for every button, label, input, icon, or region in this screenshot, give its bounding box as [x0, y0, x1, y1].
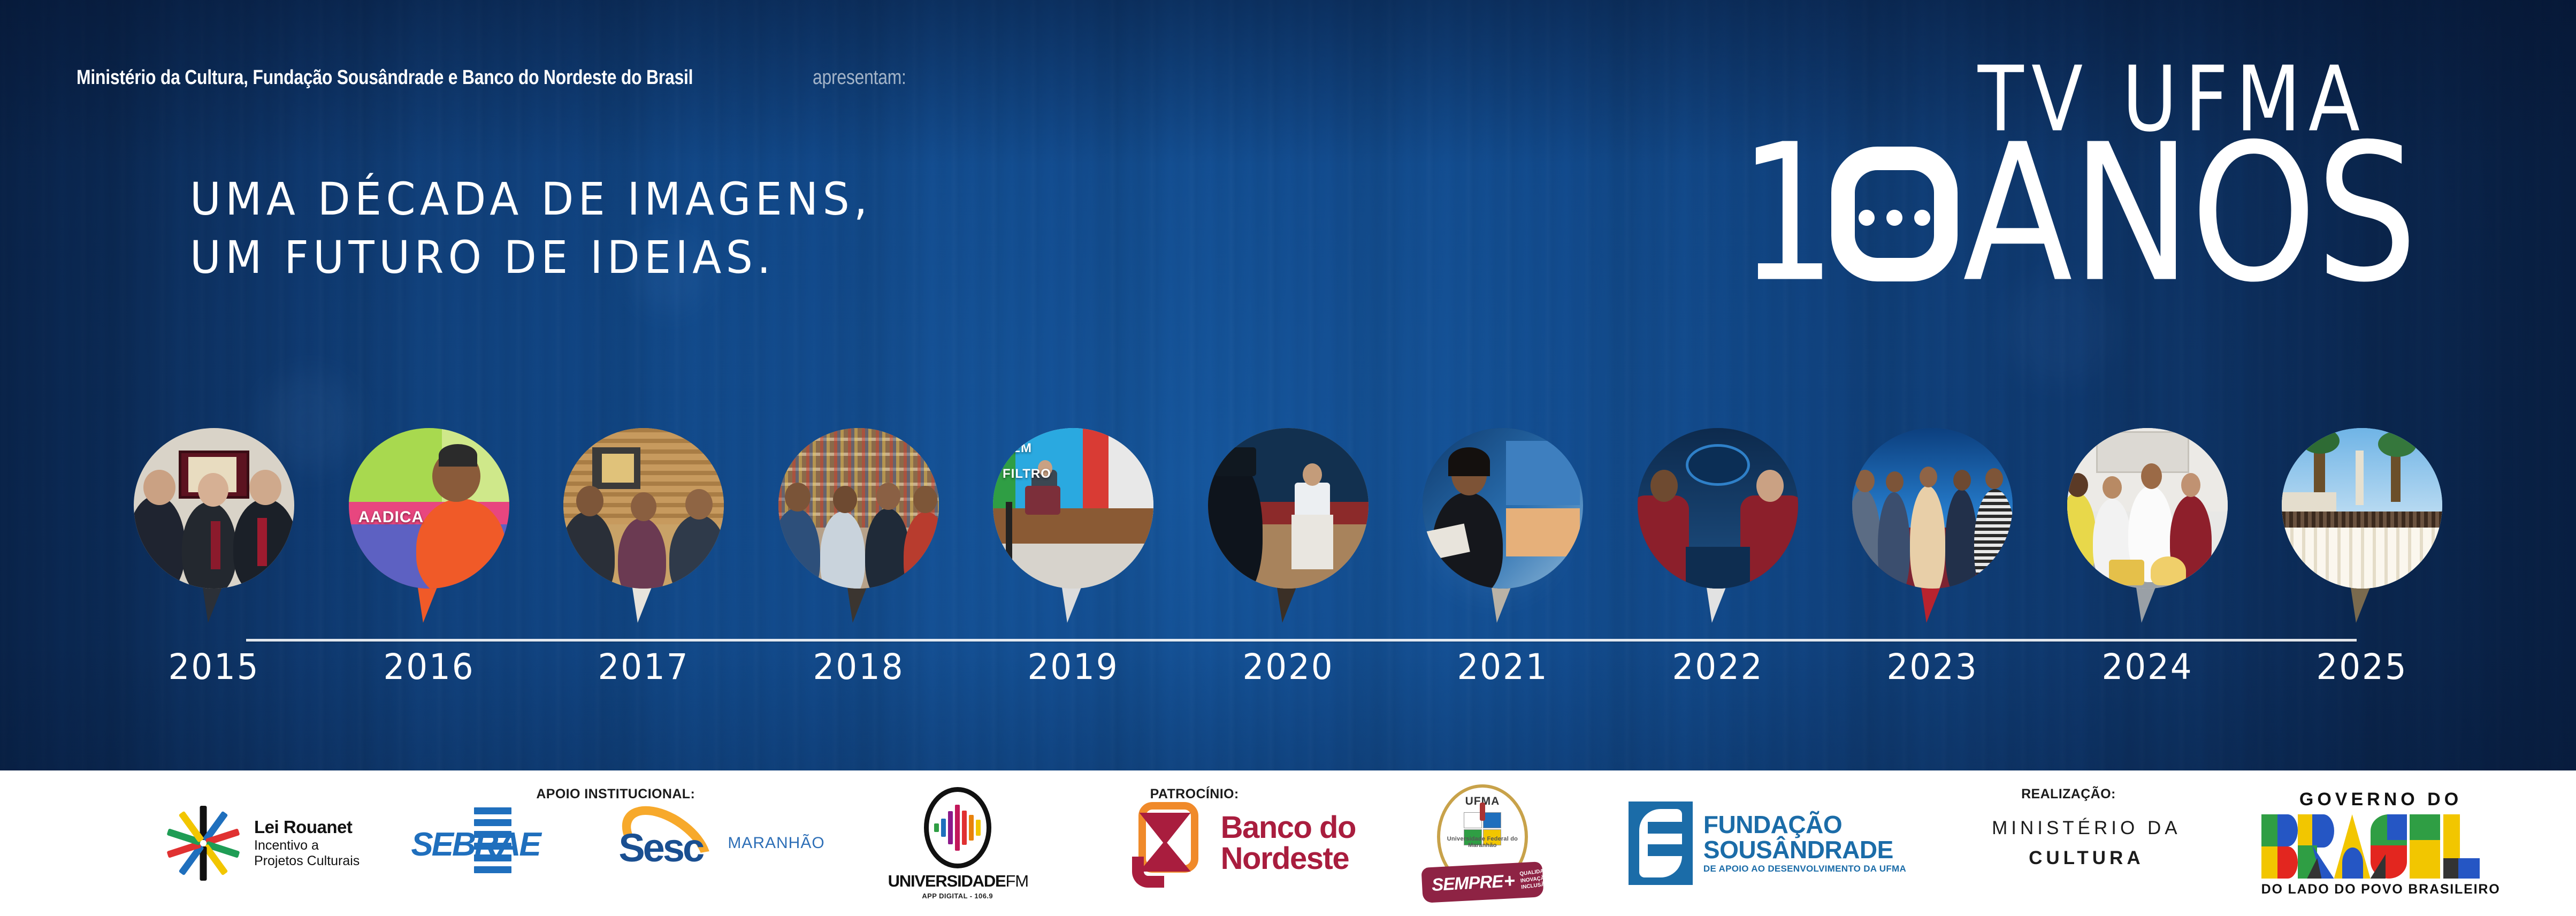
photo-scene-shape: [2096, 431, 2189, 473]
logo-banco-do-nordeste: Banco do Nordeste: [1129, 799, 1356, 888]
logo-anos-text: ANOS: [1963, 140, 2417, 288]
ufma-seal-arc-text: Universidade Federal do Maranhão: [1441, 836, 1524, 849]
photo-scene: SEMFILTRO: [993, 428, 1153, 589]
timeline-photo-bubble: [563, 428, 724, 589]
governo-bottom-text: DO LADO DO POVO BRASILEIRO: [2261, 882, 2501, 897]
photo-scene-shape: [1920, 467, 1937, 487]
photo-scene-shape: [2356, 451, 2364, 505]
photo-scene-shape: [1506, 508, 1580, 556]
timeline-photo: [1852, 428, 2013, 589]
banco-nordeste-symbol-icon: [1129, 799, 1209, 888]
photo-scene: [2282, 428, 2442, 589]
bnb-line-2: Nordeste: [1221, 843, 1356, 874]
promotional-banner: Ministério da Cultura, Fundação Sousândr…: [0, 0, 2576, 916]
timeline-year-label: 2017: [568, 646, 720, 688]
photo-scene-shape: [134, 495, 185, 589]
timeline-photo-bubble: [2067, 428, 2228, 589]
photo-scene-shape: [785, 483, 811, 512]
sempre-mais-ribbon: SEMPRE + QUALIDADE INOVAÇÃO INCLUSÃO: [1421, 861, 1543, 903]
photo-scene-shape: [993, 544, 1153, 589]
timeline-item-2022: 2022: [1638, 428, 1798, 688]
logo-sesc: Sesc MARANHÃO: [614, 811, 824, 875]
brasil-letter-block: [2458, 858, 2479, 879]
sponsor-footer: Lei Rouanet Incentivo a Projetos Cultura…: [0, 770, 2576, 916]
brasil-letter-R: [2298, 814, 2334, 879]
sesc-state: MARANHÃO: [728, 834, 824, 852]
timeline-photo-bubble: [1638, 428, 1798, 589]
photo-scene-shape: [211, 521, 220, 569]
photo-scene: [1852, 428, 2013, 589]
photo-scene-shape: SEM: [1003, 441, 1032, 456]
timeline-photo: [134, 428, 294, 589]
crest-quadrant: [1483, 812, 1501, 828]
ellipsis-dots-icon: [1859, 210, 1930, 226]
photo-scene-shape: [182, 502, 236, 589]
photo-scene: [563, 428, 724, 589]
photo-scene-shape: [1109, 428, 1153, 521]
photo-scene-shape: [143, 470, 175, 505]
timeline-photo: [1423, 428, 1583, 589]
timeline-year-label: 2025: [2286, 646, 2439, 688]
plus-icon: +: [1503, 869, 1516, 892]
photo-scene: [1423, 428, 1583, 589]
brasil-letter-S: [2371, 814, 2407, 879]
photo-scene-shape: [1953, 470, 1971, 491]
timeline-item-2021: 2021: [1423, 428, 1583, 688]
brasil-letter-block: [2277, 846, 2298, 879]
photo-scene-shape: [1638, 495, 1689, 589]
brasil-letter-block: [2443, 814, 2460, 860]
logo-universidade-fm: UNIVERSIDADEFM APP DIGITAL - 106.9: [888, 787, 1027, 900]
credit-sponsors: Ministério da Cultura, Fundação Sousândr…: [77, 66, 693, 89]
photo-scene-shape: [602, 454, 634, 483]
timeline-photo: SEMFILTRO: [993, 428, 1153, 589]
photo-scene-shape: [913, 486, 937, 513]
timeline-item-2019: SEMFILTRO2019: [993, 428, 1153, 688]
sesc-wordmark: Sesc: [618, 825, 702, 871]
photo-scene-shape: [1291, 515, 1333, 569]
equalizer-bar: [976, 820, 981, 836]
rouanet-line-1: Incentivo a: [254, 838, 360, 854]
timeline-item-2016: AADICA2016: [349, 428, 509, 688]
brasil-letter-block: [2410, 840, 2440, 879]
timeline-year-label: 2019: [997, 646, 1150, 688]
brasil-wordmark-icon: [2261, 814, 2501, 879]
timeline-photo: AADICA: [349, 428, 509, 589]
tagline: UMA DÉCADA DE IMAGENS, UM FUTURO DE IDEI…: [190, 170, 915, 287]
photo-scene-shape: [833, 486, 857, 513]
timeline-photo-bubble: [1852, 428, 2013, 589]
photo-scene-shape: [1756, 470, 1784, 502]
logo-governo-do-brasil: GOVERNO DO DO LADO DO POVO BRASILEIRO: [2261, 789, 2501, 897]
photo-scene-shape: [1506, 441, 1580, 505]
brasil-letter-block: [2261, 814, 2279, 846]
rouanet-starburst-icon: [163, 803, 243, 883]
sempre-values: QUALIDADE INOVAÇÃO INCLUSÃO: [1519, 867, 1554, 891]
brasil-letter-B: [2261, 814, 2298, 879]
photo-scene-shape: [576, 486, 603, 516]
crest-quadrant: [1464, 812, 1482, 828]
sesc-arc-icon: Sesc: [614, 811, 719, 875]
timeline-photo: [2282, 428, 2442, 589]
credit-line: Ministério da Cultura, Fundação Sousândr…: [77, 66, 924, 89]
credit-apresentam: apresentam:: [813, 66, 906, 89]
timeline-photo: [563, 428, 724, 589]
apoio-institucional-group: APOIO INSTITUCIONAL: SEBRAE Sesc MARANHÃ…: [360, 770, 1027, 916]
realizacao-label: REALIZAÇÃO:: [2021, 787, 2116, 802]
equalizer-bar: [948, 811, 953, 844]
tv-ufma-logo: TV UFMA 1 ANOS: [1404, 43, 2421, 321]
photo-scene-shape: [1448, 447, 1490, 476]
rouanet-line-2: Projetos Culturais: [254, 853, 360, 869]
fundacao-line-3: DE APOIO AO DESENVOLVIMENTO DA UFMA: [1703, 864, 1906, 874]
speech-bubble-zero-icon: [1831, 147, 1958, 281]
timeline-photo: [1638, 428, 1798, 589]
photo-scene-shape: [198, 473, 228, 507]
ministerio-line-1: MINISTÉRIO DA: [1992, 818, 2181, 839]
logo-10-anos: 1 ANOS: [1737, 134, 2417, 294]
timeline-photo: [2067, 428, 2228, 589]
timeline-photo-bubble: SEMFILTRO: [993, 428, 1153, 589]
timeline-year-label: 2021: [1427, 646, 1579, 688]
photo-scene-shape: [1083, 428, 1109, 518]
photo-scene-shape: [416, 499, 506, 589]
photo-scene-shape: [2141, 463, 2162, 489]
logo-ministerio-da-cultura: MINISTÉRIO DA CULTURA: [1992, 818, 2181, 869]
timeline-photo-bubble: [1423, 428, 1583, 589]
photo-scene-shape: [249, 470, 281, 505]
photo-scene-shape: [1686, 444, 1750, 486]
photo-scene-shape: [1886, 471, 1904, 492]
photo-scene: [1638, 428, 1798, 589]
universidade-fm-equalizer-icon: [924, 787, 991, 868]
rouanet-name: Lei Rouanet: [254, 817, 360, 838]
photo-scene-shape: [2301, 428, 2340, 454]
photo-scene-shape: [2151, 556, 2186, 585]
photo-scene-shape: [257, 518, 267, 566]
photo-scene-shape: [876, 483, 900, 510]
equalizer-bar: [962, 811, 967, 845]
photo-scene-shape: [1985, 468, 2003, 489]
timeline-year-label: 2023: [1856, 646, 2009, 688]
timeline-photo-bubble: [1208, 428, 1369, 589]
tagline-line-2: UM FUTURO DE IDEIAS.: [190, 228, 872, 287]
equalizer-bar: [969, 815, 974, 841]
photo-scene-shape: [669, 515, 724, 589]
fundacao-line-2: SOUSÂNDRADE: [1703, 837, 1906, 862]
logo-ufma-seal: UFMA Universidade Federal do Maranhão SE…: [1421, 784, 1544, 902]
photo-scene: [778, 428, 939, 589]
brasil-letter-A: [2334, 814, 2371, 879]
photo-scene: [1208, 428, 1369, 589]
logo-lei-rouanet: Lei Rouanet Incentivo a Projetos Cultura…: [163, 770, 360, 916]
photo-scene: [2067, 428, 2228, 589]
realizacao-group: REALIZAÇÃO: MINISTÉRIO DA CULTURA GOVERN…: [1906, 770, 2500, 916]
photo-scene-shape: [1303, 463, 1322, 486]
photo-scene-shape: [631, 492, 656, 521]
photo-scene-shape: [1686, 547, 1750, 589]
timeline-item-2018: 2018: [778, 428, 939, 688]
timeline-year-label: 2022: [1641, 646, 1794, 688]
timeline-item-2024: 2024: [2067, 428, 2228, 688]
timeline-track: 2015AADICA201620172018SEMFILTRO201920202…: [0, 428, 2576, 674]
brasil-letter-block: [2277, 814, 2298, 846]
timeline-year-label: 2018: [782, 646, 935, 688]
logo-fundacao-sousandrade: FUNDAÇÃO SOUSÂNDRADE DE APOIO AO DESENVO…: [1629, 801, 1906, 885]
timeline-year-label: 2020: [1212, 646, 1364, 688]
timeline-photo-bubble: [2282, 428, 2442, 589]
photo-scene: [134, 428, 294, 589]
brasil-letter-block: [2410, 814, 2440, 841]
photo-scene-shape: [2103, 476, 2122, 499]
ministerio-line-2: CULTURA: [1992, 848, 2181, 869]
timeline-item-2015: 2015: [134, 428, 294, 688]
logo-digit-one: 1: [1739, 140, 1833, 288]
photo-scene-shape: [2282, 528, 2442, 589]
photo-scene-shape: AADICA: [358, 508, 424, 526]
photo-scene-shape: [2067, 473, 2088, 497]
photo-scene-shape: [1214, 447, 1256, 476]
sempre-text: SEMPRE: [1431, 871, 1503, 895]
timeline-year-label: 2016: [353, 646, 505, 688]
photo-scene-shape: FILTRO: [1003, 467, 1051, 482]
photo-scene-shape: [2378, 431, 2417, 457]
brasil-letter-block: [2312, 814, 2334, 848]
fundacao-line-1: FUNDAÇÃO: [1703, 812, 1906, 837]
crest-torch-icon: [1480, 803, 1485, 821]
governo-top-text: GOVERNO DO: [2261, 789, 2501, 810]
brasil-letter-block: [2387, 814, 2407, 840]
photo-scene-shape: [993, 508, 1153, 544]
brasil-letter-L: [2443, 814, 2480, 879]
brasil-letter-block: [2261, 846, 2279, 879]
photo-scene-shape: [618, 518, 666, 589]
timeline-photo: [1208, 428, 1369, 589]
timeline-year-label: 2024: [2071, 646, 2223, 688]
timeline-photo-bubble: [778, 428, 939, 589]
timeline-item-2017: 2017: [563, 428, 724, 688]
photo-scene-shape: [1006, 502, 1012, 572]
photo-scene: AADICA: [349, 428, 509, 589]
timeline-item-2025: 2025: [2282, 428, 2442, 688]
equalizer-bar: [955, 805, 960, 851]
photo-scene-shape: [439, 444, 477, 467]
equalizer-bar: [941, 819, 946, 837]
timeline-photo-bubble: [134, 428, 294, 589]
timeline-photo: [778, 428, 939, 589]
equalizer-bar: [934, 823, 939, 832]
brasil-letter-block: [2342, 848, 2363, 879]
photo-scene-shape: [2109, 560, 2144, 585]
brasil-letter-I: [2407, 814, 2443, 879]
patrocinio-group: PATROCÍNIO: Banco do Nordeste UFMA Unive…: [1027, 770, 1906, 916]
brasil-letter-block: [2443, 858, 2460, 879]
photo-scene-shape: [685, 489, 713, 520]
timeline-item-2023: 2023: [1852, 428, 2013, 688]
logo-sebrae: SEBRAE: [411, 803, 555, 883]
bnb-line-1: Banco do: [1221, 812, 1356, 843]
timeline-year-label: 2015: [138, 646, 291, 688]
fundacao-s-mark-icon: [1629, 801, 1693, 885]
photo-scene-shape: [1650, 470, 1678, 502]
universidade-fm-tagline: APP DIGITAL - 106.9: [888, 892, 1027, 900]
apoio-label: APOIO INSTITUCIONAL:: [536, 787, 695, 802]
timeline-photo-bubble: AADICA: [349, 428, 509, 589]
tagline-line-1: UMA DÉCADA DE IMAGENS,: [190, 170, 872, 228]
photo-scene-shape: [349, 428, 442, 502]
timeline-item-2020: 2020: [1208, 428, 1369, 688]
sebrae-wordmark: SEBRAE: [411, 826, 539, 864]
photo-scene-shape: [1025, 486, 1060, 515]
universidade-fm-wordmark: UNIVERSIDADEFM: [888, 872, 1027, 891]
photo-scene-shape: [2181, 473, 2200, 497]
photo-scene-shape: [1855, 470, 1875, 492]
